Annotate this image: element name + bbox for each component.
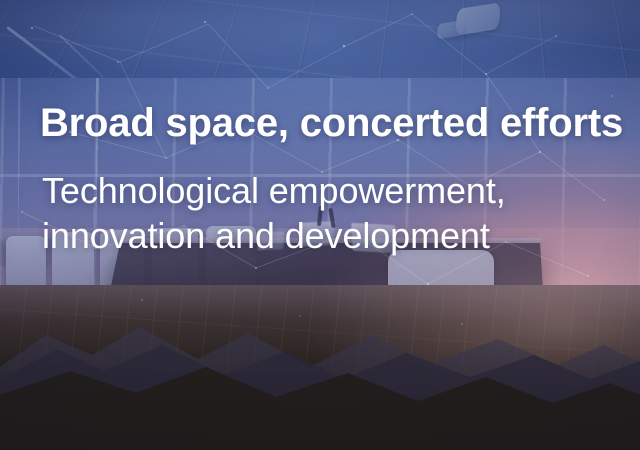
banner-subheading-line-2: innovation and development	[42, 213, 600, 258]
hero-banner: Broad space, concerted efforts Technolog…	[0, 0, 640, 450]
banner-subheading: Technological empowerment, innovation an…	[42, 168, 600, 258]
banner-headline: Broad space, concerted efforts	[40, 100, 600, 146]
banner-copy: Broad space, concerted efforts Technolog…	[40, 100, 600, 258]
banner-subheading-line-1: Technological empowerment,	[42, 168, 600, 213]
